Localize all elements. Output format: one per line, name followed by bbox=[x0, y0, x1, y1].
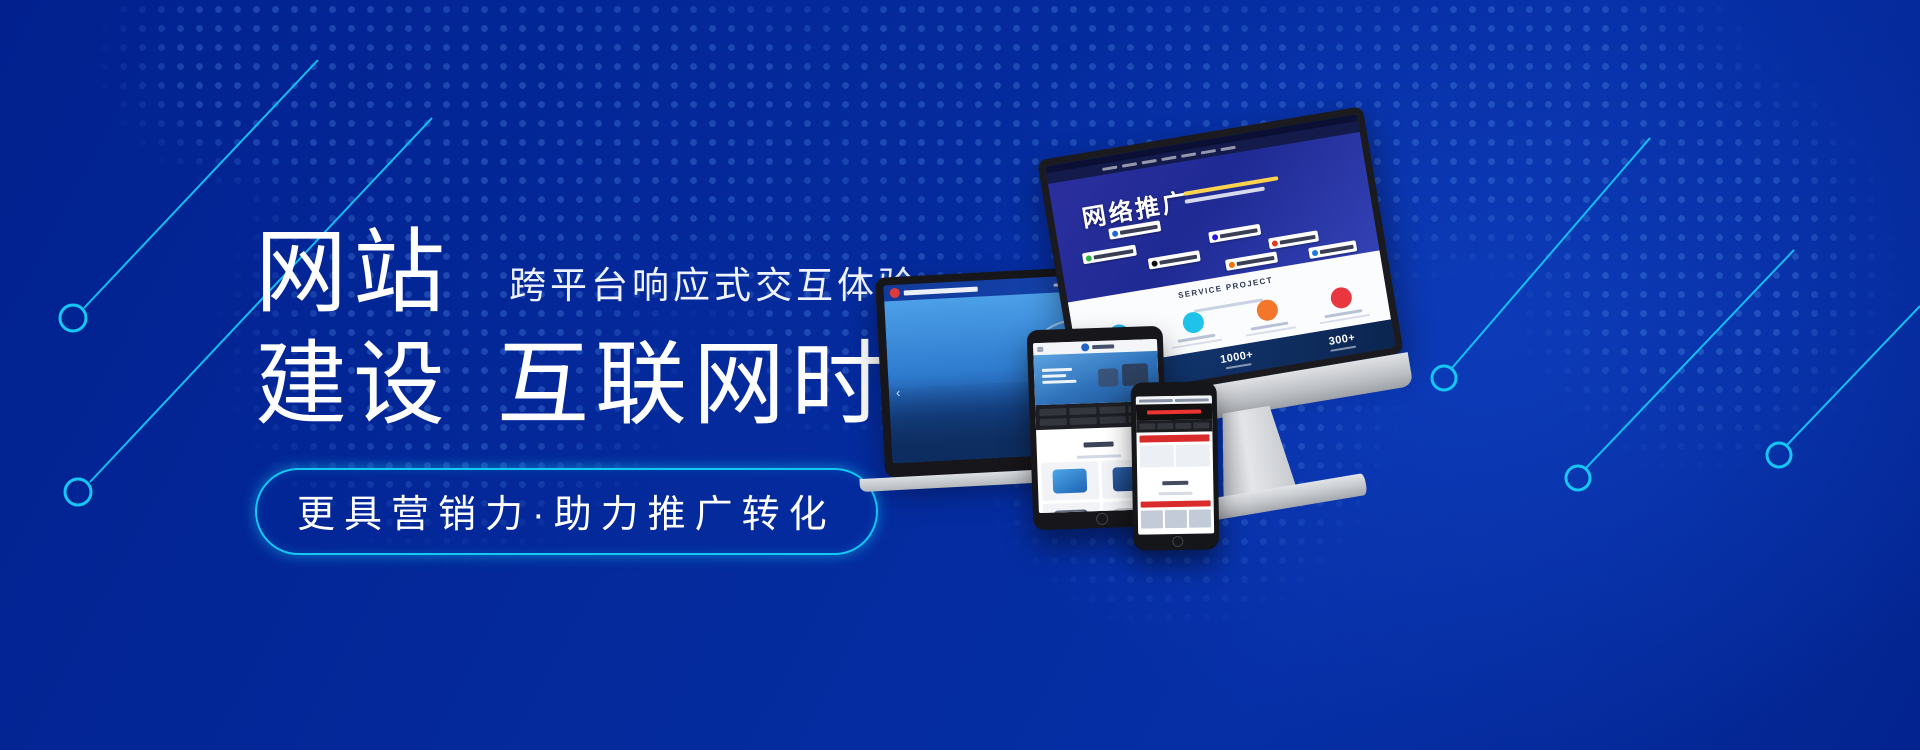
monitor-nav-item bbox=[1181, 152, 1196, 157]
phone-mockup bbox=[1131, 381, 1220, 550]
phone-photo bbox=[1141, 510, 1163, 528]
tablet-hero-product-2 bbox=[1098, 368, 1119, 387]
tablet-menu-icon bbox=[1037, 346, 1043, 351]
tablet-product-card bbox=[1041, 461, 1099, 501]
alibaba-logo-icon bbox=[1228, 261, 1235, 268]
pill-douyin-logo bbox=[1148, 250, 1201, 269]
seo-logo-icon bbox=[1112, 230, 1119, 237]
laptop-site-brand bbox=[904, 286, 978, 295]
deco-circle-2 bbox=[65, 479, 91, 505]
deco-circle-1 bbox=[60, 305, 86, 331]
tablet-nav-tile bbox=[1099, 416, 1126, 424]
360-logo-icon bbox=[1085, 254, 1092, 261]
device-mockup-group: 芬瑞特 ‹ 网络推广 bbox=[880, 100, 1920, 660]
tagline-text: 更具营销力·助力推广转化 bbox=[297, 483, 836, 538]
monitor-nav-item bbox=[1122, 162, 1137, 167]
service-icon bbox=[1181, 310, 1205, 334]
phone-site-header bbox=[1136, 403, 1212, 420]
sogou-logo-icon bbox=[1271, 240, 1278, 247]
phone-nav-tab bbox=[1139, 423, 1155, 429]
service-icon bbox=[1329, 286, 1353, 310]
phone-photo bbox=[1165, 510, 1187, 528]
phone-photo-grid bbox=[1138, 509, 1214, 531]
phone-home-button[interactable] bbox=[1172, 536, 1183, 547]
phone-screen bbox=[1136, 395, 1214, 534]
subtitle-text: 跨平台响应式交互体验 bbox=[509, 255, 919, 309]
tablet-nav-tile bbox=[1040, 418, 1067, 426]
tablet-nav-tile bbox=[1069, 417, 1096, 425]
monitor-nav-item bbox=[1161, 156, 1176, 161]
pill-baidu-logo bbox=[1208, 224, 1261, 243]
product-thumb bbox=[1053, 469, 1088, 494]
service-icon bbox=[1255, 298, 1279, 322]
hero-banner: 网站 跨平台响应式交互体验 建设 互联网时代 更具营销力·助力推广转化 bbox=[0, 0, 1920, 750]
phone-promo-bar bbox=[1139, 434, 1209, 442]
tablet-site-logo-icon bbox=[1081, 343, 1089, 351]
weixin-logo-icon bbox=[1312, 249, 1319, 256]
phone-promo-bar-2 bbox=[1141, 500, 1211, 507]
phone-nav-tabs bbox=[1136, 419, 1212, 432]
phone-nav-tab bbox=[1193, 422, 1209, 428]
phone-card bbox=[1176, 444, 1210, 467]
tablet-hero-caption bbox=[1042, 368, 1077, 387]
stat-item: 300+ bbox=[1328, 332, 1357, 352]
stat-item: 1000+ bbox=[1219, 349, 1255, 370]
monitor-nav-item bbox=[1220, 146, 1235, 151]
tablet-nav-tile bbox=[1039, 408, 1066, 416]
laptop-carousel-prev-icon: ‹ bbox=[896, 385, 901, 400]
douyin-logo-icon bbox=[1151, 260, 1158, 267]
phone-nav-tab bbox=[1175, 423, 1191, 429]
tagline-box: 更具营销力·助力推广转化 bbox=[255, 468, 878, 555]
pill-360-logo bbox=[1082, 245, 1137, 265]
monitor-nav-item bbox=[1142, 159, 1157, 164]
headline-line-1: 网站 bbox=[255, 225, 451, 323]
tablet-nav-tile bbox=[1069, 407, 1096, 415]
phone-site-brand bbox=[1147, 410, 1200, 415]
phone-nav-tab bbox=[1157, 423, 1173, 429]
phone-photo bbox=[1189, 509, 1211, 527]
baidu-logo-icon bbox=[1212, 233, 1219, 240]
phone-card bbox=[1140, 445, 1174, 468]
tablet-nav-tile bbox=[1099, 406, 1126, 414]
headline-line-2: 建设 bbox=[255, 337, 451, 435]
phone-card-row bbox=[1137, 444, 1213, 467]
tablet-site-brand bbox=[1092, 344, 1114, 349]
monitor-nav-item bbox=[1102, 166, 1117, 171]
laptop-site-logo-icon bbox=[890, 288, 901, 299]
phone-section-title bbox=[1137, 466, 1214, 498]
monitor-nav-item bbox=[1201, 149, 1216, 154]
